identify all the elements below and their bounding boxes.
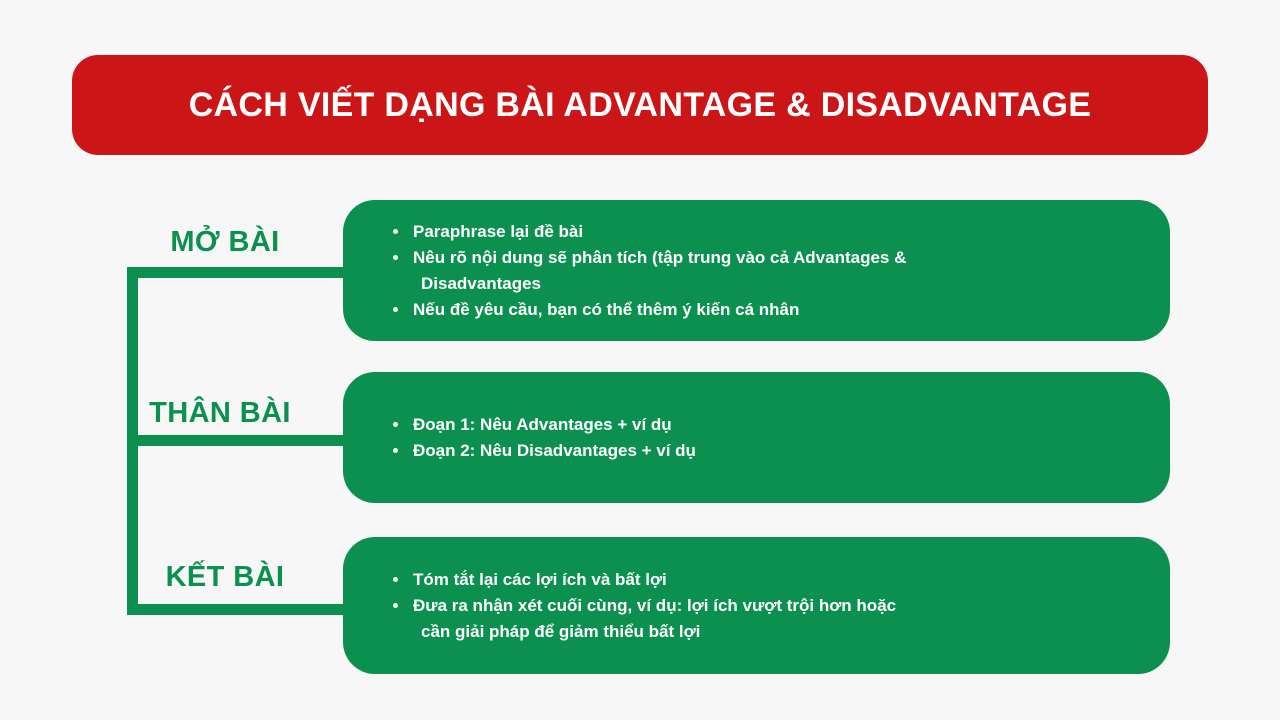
stage-label-body: THÂN BÀI xyxy=(100,397,340,430)
bracket-arm-intro xyxy=(127,267,349,278)
infographic-canvas: CÁCH VIẾT DẠNG BÀI ADVANTAGE & DISADVANT… xyxy=(0,0,1280,720)
content-box-body: Đoạn 1: Nêu Advantages + ví dụ Đoạn 2: N… xyxy=(343,372,1170,503)
bullet-item: Nếu đề yêu cầu, bạn có thể thêm ý kiến c… xyxy=(391,297,1130,322)
stage-label-conclusion: KẾT BÀI xyxy=(105,561,345,594)
bullet-list-body: Đoạn 1: Nêu Advantages + ví dụ Đoạn 2: N… xyxy=(391,412,1130,464)
bullet-item: Nêu rõ nội dung sẽ phân tích (tập trung … xyxy=(391,245,1130,270)
bracket-arm-body xyxy=(127,435,349,446)
bullet-item: Đoạn 2: Nêu Disadvantages + ví dụ xyxy=(391,438,1130,463)
bracket-arm-conclusion xyxy=(127,604,349,615)
bullet-item: Paraphrase lại đề bài xyxy=(391,219,1130,244)
bullet-item-continuation: cần giải pháp để giảm thiểu bất lợi xyxy=(391,619,1130,644)
bullet-item: Tóm tắt lại các lợi ích và bất lợi xyxy=(391,567,1130,592)
bullet-list-intro: Paraphrase lại đề bài Nêu rõ nội dung sẽ… xyxy=(391,219,1130,323)
bullet-item-continuation: Disadvantages xyxy=(391,271,1130,296)
title-banner: CÁCH VIẾT DẠNG BÀI ADVANTAGE & DISADVANT… xyxy=(72,55,1208,155)
content-box-intro: Paraphrase lại đề bài Nêu rõ nội dung sẽ… xyxy=(343,200,1170,341)
bullet-item: Đoạn 1: Nêu Advantages + ví dụ xyxy=(391,412,1130,437)
stage-label-intro: MỞ BÀI xyxy=(105,226,345,259)
bullet-list-conclusion: Tóm tắt lại các lợi ích và bất lợi Đưa r… xyxy=(391,567,1130,645)
page-title: CÁCH VIẾT DẠNG BÀI ADVANTAGE & DISADVANT… xyxy=(189,86,1092,125)
bullet-item: Đưa ra nhận xét cuối cùng, ví dụ: lợi íc… xyxy=(391,593,1130,618)
content-box-conclusion: Tóm tắt lại các lợi ích và bất lợi Đưa r… xyxy=(343,537,1170,674)
